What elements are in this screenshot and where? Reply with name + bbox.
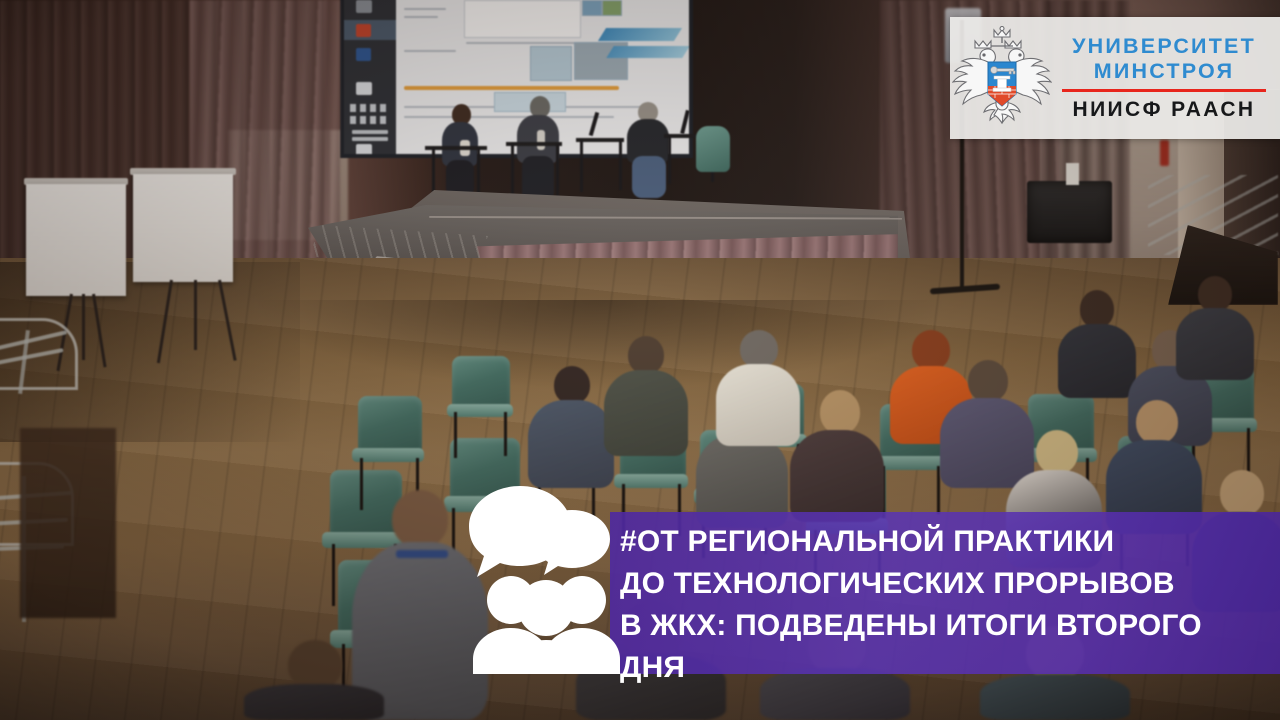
russian-double-headed-eagle-emblem: [950, 24, 1054, 132]
audience-member: [528, 366, 614, 486]
logo-line-3: НИИСФ РААСН: [1054, 98, 1274, 122]
speech-bubbles-people-icon: [468, 482, 620, 674]
fire-extinguisher: [1160, 140, 1169, 166]
flipchart-easel-1: [22, 178, 132, 328]
stage-speaker-3: [626, 102, 672, 198]
logo-line-1: УНИВЕРСИТЕТ: [1054, 34, 1274, 59]
screen-taskbar: [344, 0, 396, 154]
audience-member: [1176, 276, 1254, 376]
logo-divider: [1062, 89, 1266, 92]
audience-member: [790, 390, 884, 520]
audience-member: [716, 330, 800, 442]
stage-speaker-2: [517, 96, 561, 202]
loudspeaker: [1027, 181, 1112, 243]
audience-member-foreground: [244, 640, 384, 720]
university-logo-plate: УНИВЕРСИТЕТ МИНСТРОЯ НИИСФ РААСН: [950, 17, 1280, 139]
logo-wordmark: УНИВЕРСИТЕТ МИНСТРОЯ НИИСФ РААСН: [1054, 34, 1280, 122]
floor-mat: [20, 428, 116, 618]
stage-chair: [696, 126, 730, 172]
logo-line-2: МИНСТРОЯ: [1054, 59, 1274, 84]
audience-chair: [358, 396, 422, 458]
audience-member: [604, 336, 688, 454]
stage-speaker-1: [440, 104, 480, 196]
slide-textbox: [464, 0, 581, 38]
info-card: [1066, 163, 1079, 185]
social-media-event-card: УНИВЕРСИТЕТ МИНСТРОЯ НИИСФ РААСН: [0, 0, 1280, 720]
banner-title: #ОТ РЕГИОНАЛЬНОЙ ПРАКТИКИ ДО ТЕХНОЛОГИЧЕ…: [620, 521, 1280, 689]
flipchart-easel-2: [128, 168, 240, 326]
audience-member: [1058, 290, 1136, 394]
audience-chair: [452, 356, 510, 412]
powerpoint-icon: [356, 24, 371, 37]
word-icon: [356, 48, 371, 61]
